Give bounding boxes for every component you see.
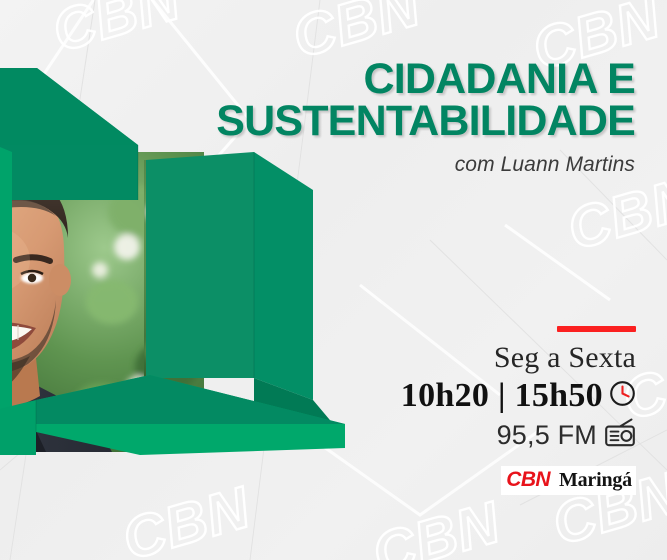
radio-icon bbox=[604, 418, 636, 452]
schedule-times: 10h20 | 15h50 bbox=[401, 377, 603, 415]
radio-program-poster: CBN bbox=[0, 0, 667, 560]
schedule-time-row: 10h20 | 15h50 bbox=[276, 377, 636, 415]
frequency-row: 95,5 FM bbox=[276, 418, 636, 452]
radio-frequency: 95,5 FM bbox=[497, 420, 597, 451]
station-name: Maringá bbox=[559, 469, 632, 492]
schedule-block: Seg a Sexta 10h20 | 15h50 95,5 FM bbox=[276, 326, 636, 452]
program-title-line2: SUSTENTABILIDADE bbox=[205, 100, 635, 142]
accent-rule bbox=[557, 326, 636, 332]
program-title-line1: CIDADANIA E bbox=[205, 58, 635, 100]
schedule-days: Seg a Sexta bbox=[276, 341, 636, 375]
program-host: com Luann Martins bbox=[205, 153, 635, 177]
clock-icon bbox=[609, 380, 636, 412]
cbn-maringa-logo: CBN Maringá bbox=[501, 466, 636, 495]
cbn-wordmark: CBN bbox=[506, 468, 550, 492]
program-title-block: CIDADANIA E SUSTENTABILIDADE com Luann M… bbox=[205, 58, 635, 177]
